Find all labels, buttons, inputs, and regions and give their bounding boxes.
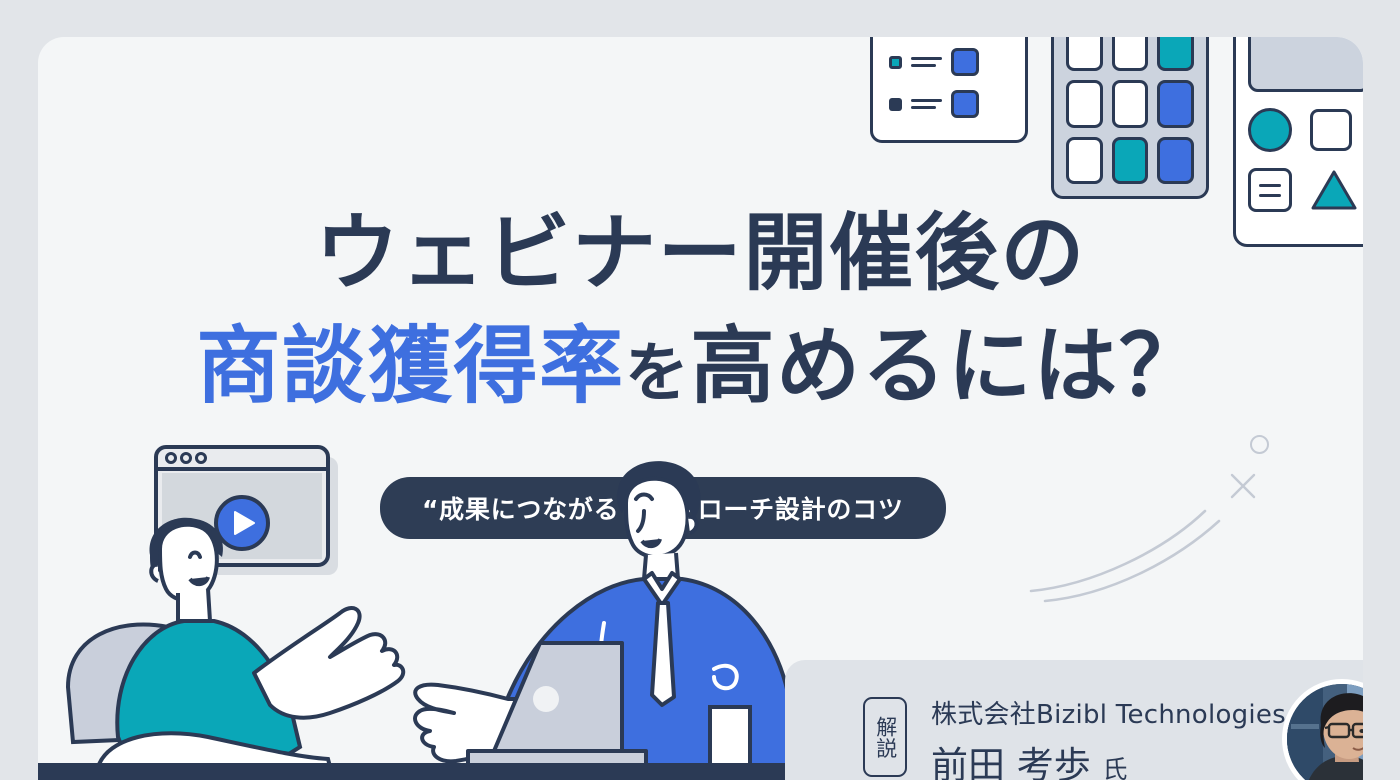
main-card: ウェビナー開催後の 商談獲得率を高めるには？ “成果につながる” アプローチ設計… bbox=[38, 37, 1363, 780]
headline-block: ウェビナー開催後の 商談獲得率を高めるには？ bbox=[38, 205, 1363, 416]
grid-cell bbox=[1066, 137, 1103, 184]
speaker-company: 株式会社Bizibl Technologies bbox=[931, 694, 1286, 731]
headline-line-2: 商談獲得率を高めるには？ bbox=[38, 318, 1363, 415]
white-square-icon bbox=[1310, 109, 1352, 151]
commentary-badge: 解説 bbox=[863, 697, 907, 777]
grid-cell bbox=[1066, 37, 1103, 71]
speaker-avatar bbox=[1282, 679, 1363, 780]
blue-square-tile-icon bbox=[951, 90, 979, 118]
headline-particle: を bbox=[625, 337, 691, 411]
sparkle-icon bbox=[1226, 469, 1260, 503]
grid-cell bbox=[1157, 37, 1194, 71]
swoosh-decoration-icon bbox=[1023, 499, 1253, 604]
grid-cell bbox=[1157, 80, 1194, 127]
grid-cell bbox=[1157, 137, 1194, 184]
phone-shape-row bbox=[1248, 168, 1363, 212]
decor-phone-card bbox=[1233, 37, 1363, 247]
text-lines-icon bbox=[911, 99, 942, 109]
decor-list-row bbox=[889, 48, 1011, 76]
desk-bar bbox=[38, 763, 798, 780]
decor-list-card bbox=[870, 37, 1028, 143]
headline-accent-text: 商談獲得率 bbox=[196, 317, 624, 415]
phone-shape-row bbox=[1248, 108, 1363, 152]
speaker-name-text: 前田 考歩 bbox=[931, 744, 1091, 780]
speaker-name-suffix: 氏 bbox=[1103, 755, 1128, 780]
headline-line-1: ウェビナー開催後の bbox=[38, 205, 1363, 302]
avatar-portrait-icon bbox=[1287, 684, 1363, 780]
text-lines-icon bbox=[911, 57, 942, 67]
phone-header-block bbox=[1248, 37, 1363, 92]
grid-cell bbox=[1112, 137, 1149, 184]
teal-circle-icon bbox=[1248, 108, 1292, 152]
grid-cell bbox=[1066, 80, 1103, 127]
speaker-panel: 解説 株式会社Bizibl Technologies 前田 考歩 氏 bbox=[785, 660, 1363, 780]
decor-grid-card bbox=[1051, 37, 1209, 199]
grid-cell bbox=[1112, 37, 1149, 71]
slide-canvas: ウェビナー開催後の 商談獲得率を高めるには？ “成果につながる” アプローチ設計… bbox=[0, 0, 1400, 780]
teal-square-bullet-icon bbox=[889, 56, 902, 69]
teal-triangle-icon bbox=[1310, 168, 1358, 212]
people-illustration bbox=[38, 437, 798, 780]
decor-list-row bbox=[889, 90, 1011, 118]
headline-rest-text: 高めるには？ bbox=[691, 317, 1205, 415]
small-circle-decoration-icon bbox=[1250, 435, 1269, 454]
blue-square-tile-icon bbox=[951, 48, 979, 76]
grid-cell bbox=[1112, 80, 1149, 127]
speaker-text-block: 株式会社Bizibl Technologies 前田 考歩 氏 bbox=[931, 694, 1286, 780]
lined-box-icon bbox=[1248, 168, 1292, 212]
navy-square-bullet-icon bbox=[889, 98, 902, 111]
speaker-name: 前田 考歩 氏 bbox=[931, 735, 1286, 780]
